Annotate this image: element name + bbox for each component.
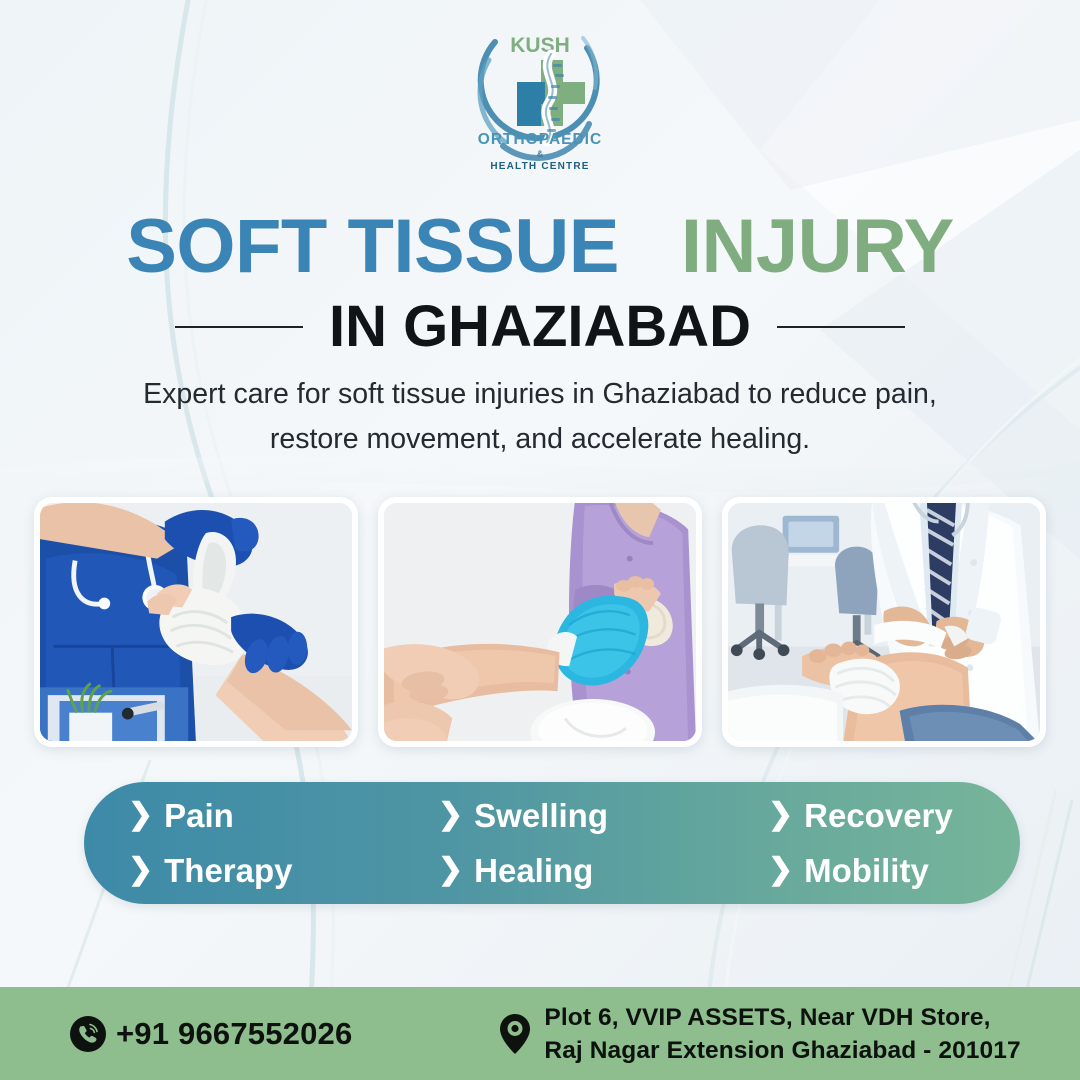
address-contact[interactable]: Plot 6, VVIP ASSETS, Near VDH Store, Raj… [498,1001,1020,1067]
address-line-1: Plot 6, VVIP ASSETS, Near VDH Store, [544,1004,990,1031]
feature-item-therapy[interactable]: ❯ Therapy [128,853,438,889]
feature-pill-bar: ❯ Pain ❯ Swelling ❯ Recovery ❯ Therapy ❯… [84,782,1020,904]
feature-item-healing[interactable]: ❯ Healing [438,853,768,889]
logo-line-health-centre: HEALTH CENTRE [490,161,589,172]
divider-right [777,326,905,328]
chevron-right-icon: ❯ [438,852,463,888]
feature-label: Pain [164,798,234,834]
feature-label: Mobility [804,853,929,889]
chevron-right-icon: ❯ [128,797,153,833]
contact-footer: +91 9667552026 Plot 6, VVIP ASSETS, Near… [0,987,1080,1080]
poster-canvas: KUSH ORTHOPAEDIC & HEALTH CENTRE [0,0,1080,1080]
chevron-right-icon: ❯ [768,797,793,833]
photo-doctor-bandaging-ankle [728,503,1040,741]
feature-label: Recovery [804,798,953,834]
subtitle-row: IN GHAZIABAD [0,296,1080,358]
feature-item-mobility[interactable]: ❯ Mobility [768,853,1020,889]
photo-nurse-bandaging-hand [40,503,352,741]
photo-card [378,497,702,747]
feature-label: Swelling [474,798,608,834]
page-title: SOFT TISSUE INJURY [0,206,1080,288]
phone-contact[interactable]: +91 9667552026 [68,1014,352,1054]
map-pin-icon [498,1012,532,1056]
photo-card [722,497,1046,747]
chevron-right-icon: ❯ [768,852,793,888]
page-subtitle: IN GHAZIABAD [329,296,751,358]
feature-item-pain[interactable]: ❯ Pain [128,798,438,834]
tagline-text: Expert care for soft tissue injuries in … [125,372,955,462]
feature-item-recovery[interactable]: ❯ Recovery [768,798,1020,834]
headline-primary: SOFT TISSUE [126,204,619,289]
photo-card [34,497,358,747]
chevron-right-icon: ❯ [438,797,463,833]
feature-label: Therapy [164,853,292,889]
address-line-2: Raj Nagar Extension Ghaziabad - 201017 [544,1037,1020,1064]
logo-line-orthopaedic: ORTHOPAEDIC [478,131,602,148]
logo-brand-name: KUSH [510,34,570,57]
divider-left [175,326,303,328]
feature-label: Healing [474,853,593,889]
phone-ringing-icon [68,1014,108,1054]
brand-logo: KUSH ORTHOPAEDIC & HEALTH CENTRE [465,14,615,174]
phone-number: +91 9667552026 [116,1016,352,1052]
headline-accent: INJURY [681,204,954,289]
address-text: Plot 6, VVIP ASSETS, Near VDH Store, Raj… [544,1001,1020,1067]
feature-item-swelling[interactable]: ❯ Swelling [438,798,768,834]
photo-nurse-applying-cast [384,503,696,741]
photo-card-row [34,497,1046,747]
logo-ampersand: & [537,149,544,159]
chevron-right-icon: ❯ [128,852,153,888]
